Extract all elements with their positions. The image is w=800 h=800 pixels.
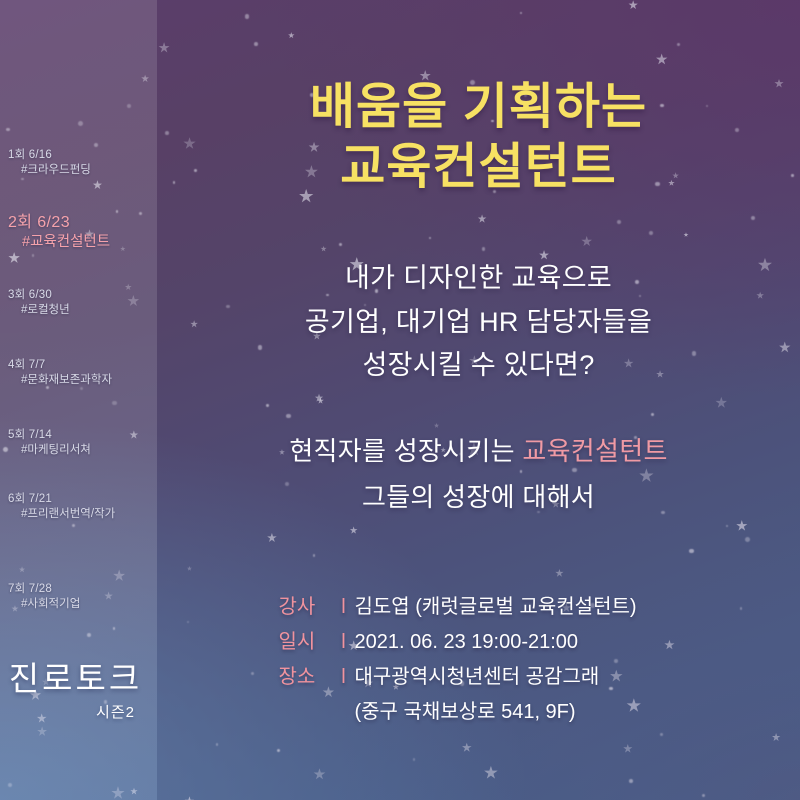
brand-block: 진로토크 시즌2 xyxy=(0,662,151,722)
sub-line-1: 현직자를 성장시키는 교육컨설턴트 xyxy=(157,428,800,474)
detail-value: 김도엽 (캐럿글로벌 교육컨설턴트) xyxy=(355,592,679,623)
sidebar-item-episode-1[interactable]: 1회 6/16#크라우드펀딩 xyxy=(8,148,153,178)
main-content: 배움을 기획하는 교육컨설턴트 내가 디자인한 교육으로 공기업, 대기업 HR… xyxy=(157,0,800,800)
detail-value: 대구광역시청년센터 공감그래 xyxy=(355,662,679,693)
episode-hashtag: #프리랜서번역/작가 xyxy=(8,507,153,522)
lead-paragraph: 내가 디자인한 교육으로 공기업, 대기업 HR 담당자들을 성장시킬 수 있다… xyxy=(157,257,800,388)
title-line-1: 배움을 기획하는 xyxy=(157,78,800,138)
episode-hashtag: #크라우드펀딩 xyxy=(8,163,153,178)
lead-line-1: 내가 디자인한 교육으로 xyxy=(157,257,800,301)
detail-value: 2021. 06. 23 19:00-21:00 xyxy=(355,627,679,658)
episode-number-date: 1회 6/16 xyxy=(8,148,153,163)
detail-separator: l xyxy=(333,627,355,658)
episode-number-date: 7회 7/28 xyxy=(8,582,153,597)
detail-label: 장소 xyxy=(279,662,333,693)
episode-hashtag: #문화재보존과학자 xyxy=(8,373,153,388)
event-details: 강사l김도엽 (캐럿글로벌 교육컨설턴트)일시l2021. 06. 23 19:… xyxy=(157,592,800,728)
detail-label: 강사 xyxy=(279,592,333,623)
lead-line-2: 공기업, 대기업 HR 담당자들을 xyxy=(157,301,800,345)
episode-hashtag: #로컬청년 xyxy=(8,303,153,318)
episode-hashtag: #사회적기업 xyxy=(8,597,153,612)
sidebar-item-episode-6[interactable]: 6회 7/21#프리랜서번역/작가 xyxy=(8,492,153,522)
episode-number-date: 5회 7/14 xyxy=(8,428,153,443)
episode-sidebar: 1회 6/16#크라우드펀딩2회 6/23#교육컨설턴트3회 6/30#로컬청년… xyxy=(0,0,157,800)
episode-number-date: 4회 7/7 xyxy=(8,358,153,373)
episode-hashtag: #마케팅리서쳐 xyxy=(8,443,153,458)
detail-row: 장소l대구광역시청년센터 공감그래 xyxy=(279,662,679,693)
page-title: 배움을 기획하는 교육컨설턴트 xyxy=(157,78,800,198)
sidebar-item-episode-3[interactable]: 3회 6/30#로컬청년 xyxy=(8,288,153,318)
episode-number-date: 3회 6/30 xyxy=(8,288,153,303)
detail-row: (중구 국채보상로 541, 9F) xyxy=(279,697,679,728)
sidebar-item-episode-2[interactable]: 2회 6/23#교육컨설턴트 xyxy=(8,212,153,252)
sidebar-item-episode-4[interactable]: 4회 7/7#문화재보존과학자 xyxy=(8,358,153,388)
detail-row: 강사l김도엽 (캐럿글로벌 교육컨설턴트) xyxy=(279,592,679,623)
episode-number-date: 6회 7/21 xyxy=(8,492,153,507)
detail-row: 일시l2021. 06. 23 19:00-21:00 xyxy=(279,627,679,658)
sub-line-1-text: 현직자를 성장시키는 xyxy=(289,436,522,466)
brand-season: 시즌2 xyxy=(0,701,151,722)
sidebar-item-episode-5[interactable]: 5회 7/14#마케팅리서쳐 xyxy=(8,428,153,458)
sub-paragraph: 현직자를 성장시키는 교육컨설턴트 그들의 성장에 대해서 xyxy=(157,428,800,521)
sub-line-2: 그들의 성장에 대해서 xyxy=(157,474,800,520)
sidebar-item-episode-7[interactable]: 7회 7/28#사회적기업 xyxy=(8,582,153,612)
lead-line-3: 성장시킬 수 있다면? xyxy=(157,344,800,388)
detail-label: 일시 xyxy=(279,627,333,658)
poster-canvas: 1회 6/16#크라우드펀딩2회 6/23#교육컨설턴트3회 6/30#로컬청년… xyxy=(0,0,800,800)
detail-value: (중구 국채보상로 541, 9F) xyxy=(355,697,679,728)
title-line-2: 교육컨설턴트 xyxy=(157,138,800,198)
detail-separator: l xyxy=(333,662,355,693)
sub-line-1-accent: 교육컨설턴트 xyxy=(522,436,667,466)
detail-separator: l xyxy=(333,592,355,623)
episode-hashtag: #교육컨설턴트 xyxy=(8,233,153,252)
brand-title: 진로토크 xyxy=(0,662,151,697)
episode-number-date: 2회 6/23 xyxy=(8,212,153,233)
sidebar-inner: 1회 6/16#크라우드펀딩2회 6/23#교육컨설턴트3회 6/30#로컬청년… xyxy=(0,0,157,800)
